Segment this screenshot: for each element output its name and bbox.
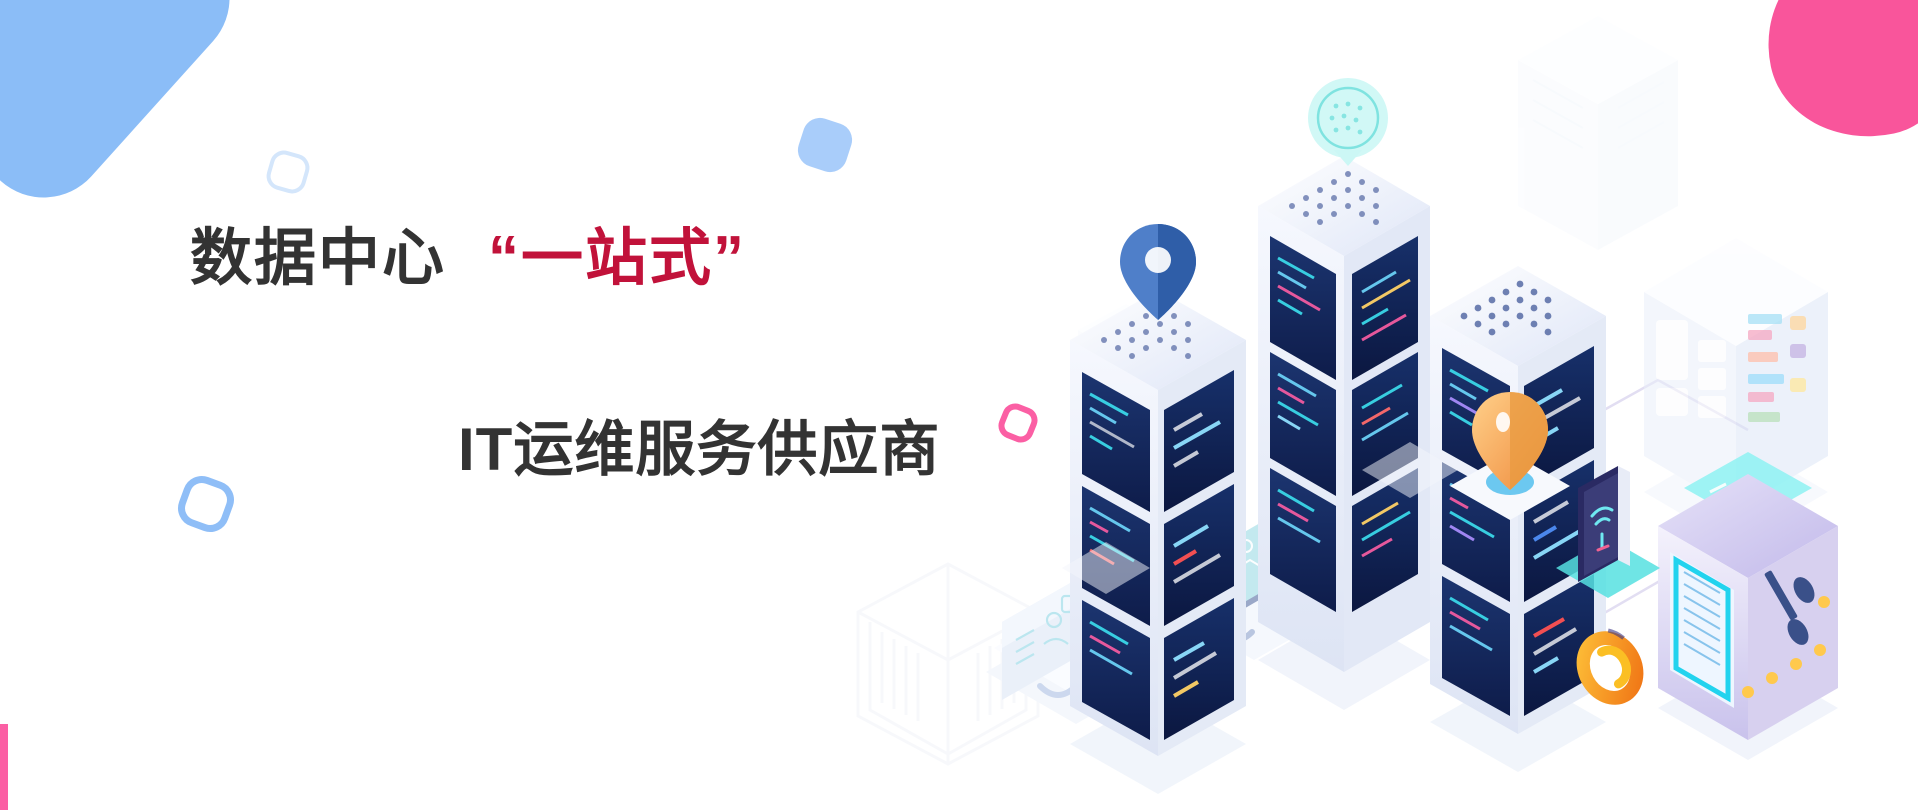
headline-block: 数据中心 “一站式” IT运维服务供应商 (190, 225, 1090, 488)
headline-accent-quoted: “一站式” (488, 225, 746, 293)
hero-banner: 数据中心 “一站式” IT运维服务供应商 (0, 0, 1918, 810)
globe-icon (1308, 78, 1388, 166)
squircle-blue-filled-icon (793, 113, 856, 176)
rounded-square-blue-decoration (0, 0, 256, 224)
pink-edge-bar-decoration (0, 724, 8, 810)
headline-prefix: 数据中心 (190, 225, 446, 293)
server-rack-back-middle (1258, 78, 1430, 710)
ring-blue-small-icon (263, 147, 312, 196)
isometric-datacenter-illustration (958, 0, 1918, 810)
headline-line-1: 数据中心 “一站式” (190, 225, 1090, 293)
server-rack-front-left (1070, 224, 1246, 794)
